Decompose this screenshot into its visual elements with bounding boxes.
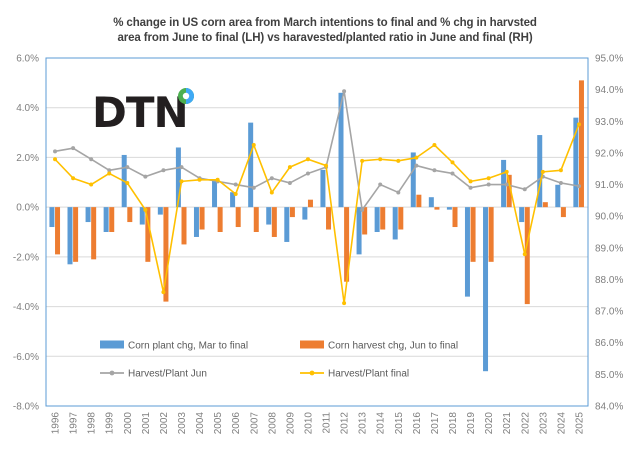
line-marker bbox=[505, 183, 509, 187]
x-axis-tick-label: 2008 bbox=[267, 412, 278, 435]
line-marker bbox=[469, 186, 473, 190]
right-axis-tick-label: 95.0% bbox=[595, 54, 623, 65]
right-axis-tick-label: 85.0% bbox=[595, 370, 623, 381]
dtn-watermark: DTN bbox=[92, 88, 194, 137]
line-marker bbox=[71, 176, 75, 180]
line-marker bbox=[432, 168, 436, 172]
bar-plant-chg bbox=[411, 152, 416, 207]
line-marker bbox=[252, 186, 256, 190]
x-axis-tick-label: 2022 bbox=[520, 412, 531, 435]
right-axis-tick-label: 93.0% bbox=[595, 117, 623, 128]
bar-plant-chg bbox=[248, 123, 253, 208]
line-marker bbox=[89, 157, 93, 161]
right-axis-tick-label: 87.0% bbox=[595, 307, 623, 318]
legend-swatch bbox=[300, 341, 324, 349]
x-axis-tick-label: 2007 bbox=[249, 412, 260, 435]
x-axis-tick-label: 2001 bbox=[141, 412, 152, 435]
legend-label: Harvest/Plant Jun bbox=[128, 369, 207, 380]
x-axis-tick-label: 2020 bbox=[484, 412, 495, 435]
line-marker bbox=[216, 178, 220, 182]
right-axis-ticks: 95.0%94.0%93.0%92.0%91.0%90.0%89.0%88.0%… bbox=[595, 54, 623, 413]
left-axis-tick-label: 2.0% bbox=[16, 153, 39, 164]
left-axis-tick-label: 6.0% bbox=[16, 54, 39, 65]
line-marker bbox=[53, 149, 57, 153]
line-marker bbox=[577, 122, 581, 126]
line-marker bbox=[306, 157, 310, 161]
bar-plant-chg bbox=[465, 207, 470, 296]
right-axis-tick-label: 92.0% bbox=[595, 148, 623, 159]
bar-harvest-chg bbox=[471, 207, 476, 262]
line-marker bbox=[234, 183, 238, 187]
bar-harvest-chg bbox=[272, 207, 277, 237]
x-axis-tick-label: 2023 bbox=[538, 412, 549, 435]
x-axis-tick-label: 2019 bbox=[466, 412, 477, 435]
x-axis-tick-label: 2002 bbox=[159, 412, 170, 435]
line-marker bbox=[396, 159, 400, 163]
line-marker bbox=[378, 183, 382, 187]
bar-plant-chg bbox=[194, 207, 199, 237]
bar-harvest-chg bbox=[380, 207, 385, 229]
line-marker bbox=[143, 175, 147, 179]
bar-harvest-chg bbox=[579, 80, 584, 207]
line-marker bbox=[378, 157, 382, 161]
x-axis-tick-label: 2004 bbox=[195, 412, 206, 435]
x-axis-tick-label: 1996 bbox=[51, 412, 62, 435]
line-marker bbox=[234, 192, 238, 196]
line-marker bbox=[523, 187, 527, 191]
x-axis-tick-label: 2009 bbox=[285, 412, 296, 435]
bar-harvest-chg bbox=[453, 207, 458, 227]
x-axis-tick-label: 2005 bbox=[213, 412, 224, 435]
bar-harvest-chg bbox=[200, 207, 205, 229]
line-marker bbox=[270, 190, 274, 194]
x-axis-tick-label: 2012 bbox=[340, 412, 351, 435]
line-marker bbox=[161, 290, 165, 294]
bar-harvest-chg bbox=[127, 207, 132, 222]
dtn-logo-text: DTN bbox=[92, 88, 188, 137]
bar-plant-chg bbox=[483, 207, 488, 371]
x-axis-tick-label: 2010 bbox=[303, 412, 314, 435]
x-axis-tick-label: 1999 bbox=[105, 412, 116, 435]
line-marker bbox=[306, 171, 310, 175]
x-axis-tick-label: 2018 bbox=[448, 412, 459, 435]
x-axis-ticks: 1996199719981999200020012002200320042005… bbox=[51, 412, 586, 435]
line-marker bbox=[577, 184, 581, 188]
bar-plant-chg bbox=[266, 207, 271, 224]
right-axis-tick-label: 86.0% bbox=[595, 338, 623, 349]
chart-title: % change in US corn area from March inte… bbox=[30, 16, 620, 46]
x-axis-tick-label: 2006 bbox=[231, 412, 242, 435]
chart-title-line-2: area from June to final (LH) vs haravest… bbox=[30, 31, 620, 46]
line-marker bbox=[523, 252, 527, 256]
x-axis-tick-label: 1998 bbox=[87, 412, 98, 435]
bar-harvest-chg bbox=[91, 207, 96, 259]
left-axis-tick-label: 0.0% bbox=[16, 203, 39, 214]
right-axis-tick-label: 88.0% bbox=[595, 275, 623, 286]
bar-plant-chg bbox=[86, 207, 91, 222]
bar-plant-chg bbox=[302, 207, 307, 219]
line-marker bbox=[288, 165, 292, 169]
x-axis-tick-label: 2017 bbox=[430, 412, 441, 435]
right-axis-tick-label: 91.0% bbox=[595, 180, 623, 191]
legend-label: Corn harvest chg, Jun to final bbox=[328, 341, 458, 352]
line-marker bbox=[451, 160, 455, 164]
line-marker bbox=[53, 157, 57, 161]
bar-plant-chg bbox=[375, 207, 380, 232]
line-marker bbox=[324, 164, 328, 168]
line-marker bbox=[270, 176, 274, 180]
legend-label: Corn plant chg, Mar to final bbox=[128, 341, 248, 352]
line-marker bbox=[180, 179, 184, 183]
line-marker bbox=[107, 171, 111, 175]
line-marker bbox=[252, 143, 256, 147]
bar-plant-chg bbox=[49, 207, 54, 227]
line-harvest-plant-final bbox=[55, 124, 579, 303]
left-axis-tick-label: -4.0% bbox=[13, 302, 39, 313]
bar-harvest-chg bbox=[326, 207, 331, 229]
line-marker bbox=[360, 208, 364, 212]
line-marker bbox=[414, 164, 418, 168]
bar-harvest-chg bbox=[55, 207, 60, 254]
x-axis-tick-label: 2015 bbox=[394, 412, 405, 435]
bar-plant-chg bbox=[284, 207, 289, 242]
line-marker bbox=[541, 170, 545, 174]
line-marker bbox=[71, 146, 75, 150]
line-marker bbox=[559, 168, 563, 172]
line-marker bbox=[451, 171, 455, 175]
x-axis-tick-label: 2021 bbox=[502, 412, 513, 435]
x-axis-tick-label: 2013 bbox=[358, 412, 369, 435]
line-marker bbox=[559, 181, 563, 185]
bar-plant-chg bbox=[357, 207, 362, 254]
left-axis-tick-label: -8.0% bbox=[13, 402, 39, 413]
chart-title-line-1: % change in US corn area from March inte… bbox=[30, 16, 620, 31]
line-marker bbox=[125, 165, 129, 169]
line-marker bbox=[288, 181, 292, 185]
legend-label: Harvest/Plant final bbox=[328, 369, 409, 380]
bar-plant-chg bbox=[429, 197, 434, 207]
line-marker bbox=[161, 168, 165, 172]
line-marker bbox=[469, 179, 473, 183]
bar-harvest-chg bbox=[489, 207, 494, 262]
line-marker bbox=[125, 181, 129, 185]
x-axis-tick-label: 2024 bbox=[556, 412, 567, 435]
right-axis-tick-label: 90.0% bbox=[595, 212, 623, 223]
line-marker bbox=[198, 178, 202, 182]
bar-harvest-chg bbox=[543, 202, 548, 207]
bar-harvest-chg bbox=[308, 200, 313, 207]
left-axis-tick-label: -2.0% bbox=[13, 252, 39, 263]
bar-harvest-chg bbox=[398, 207, 403, 229]
right-axis-tick-label: 94.0% bbox=[595, 85, 623, 96]
bar-plant-chg bbox=[104, 207, 109, 232]
line-marker bbox=[180, 165, 184, 169]
line-marker bbox=[342, 301, 346, 305]
line-marker bbox=[143, 208, 147, 212]
line-marker bbox=[396, 190, 400, 194]
bar-plant-chg bbox=[393, 207, 398, 239]
bar-plant-chg bbox=[158, 207, 163, 214]
bar-harvest-chg bbox=[182, 207, 187, 244]
bar-plant-chg bbox=[519, 207, 524, 222]
legend-swatch-marker bbox=[310, 371, 315, 376]
bar-harvest-chg bbox=[109, 207, 114, 232]
line-marker bbox=[487, 183, 491, 187]
line-marker bbox=[360, 159, 364, 163]
bar-harvest-chg bbox=[218, 207, 223, 232]
bar-harvest-chg bbox=[236, 207, 241, 227]
line-marker bbox=[432, 143, 436, 147]
line-marker bbox=[89, 183, 93, 187]
line-marker bbox=[342, 89, 346, 93]
legend-swatch-marker bbox=[110, 371, 115, 376]
bar-harvest-chg bbox=[290, 207, 295, 217]
legend-swatch bbox=[100, 341, 124, 349]
bar-plant-chg bbox=[212, 180, 217, 207]
x-axis-tick-label: 1997 bbox=[69, 412, 80, 435]
bar-plant-chg bbox=[447, 207, 452, 209]
line-marker bbox=[505, 170, 509, 174]
x-axis-tick-label: 2003 bbox=[177, 412, 188, 435]
chart-container: % change in US corn area from March inte… bbox=[0, 0, 640, 460]
left-axis-tick-label: 4.0% bbox=[16, 103, 39, 114]
line-marker bbox=[487, 176, 491, 180]
x-axis-tick-label: 2000 bbox=[123, 412, 134, 435]
x-axis-tick-label: 2025 bbox=[574, 412, 585, 435]
chart-legend: Corn plant chg, Mar to finalCorn harvest… bbox=[100, 341, 458, 380]
bar-harvest-chg bbox=[254, 207, 259, 232]
chart-plot: 6.0%4.0%2.0%0.0%-2.0%-4.0%-6.0%-8.0% 95.… bbox=[0, 0, 640, 460]
right-axis-tick-label: 89.0% bbox=[595, 243, 623, 254]
bar-plant-chg bbox=[67, 207, 72, 264]
bar-plant-chg bbox=[555, 185, 560, 207]
bar-harvest-chg bbox=[416, 195, 421, 207]
x-axis-tick-label: 2011 bbox=[322, 412, 333, 434]
right-axis-tick-label: 84.0% bbox=[595, 402, 623, 413]
left-axis-ticks: 6.0%4.0%2.0%0.0%-2.0%-4.0%-6.0%-8.0% bbox=[13, 54, 39, 413]
x-axis-tick-label: 2016 bbox=[412, 412, 423, 435]
bar-harvest-chg bbox=[561, 207, 566, 217]
bar-plant-chg bbox=[320, 170, 325, 207]
line-marker bbox=[414, 156, 418, 160]
bar-harvest-chg bbox=[73, 207, 78, 262]
bar-harvest-chg bbox=[434, 207, 439, 209]
x-axis-tick-label: 2014 bbox=[376, 412, 387, 435]
left-axis-tick-label: -6.0% bbox=[13, 352, 39, 363]
dtn-logo-dot-center bbox=[183, 93, 189, 99]
